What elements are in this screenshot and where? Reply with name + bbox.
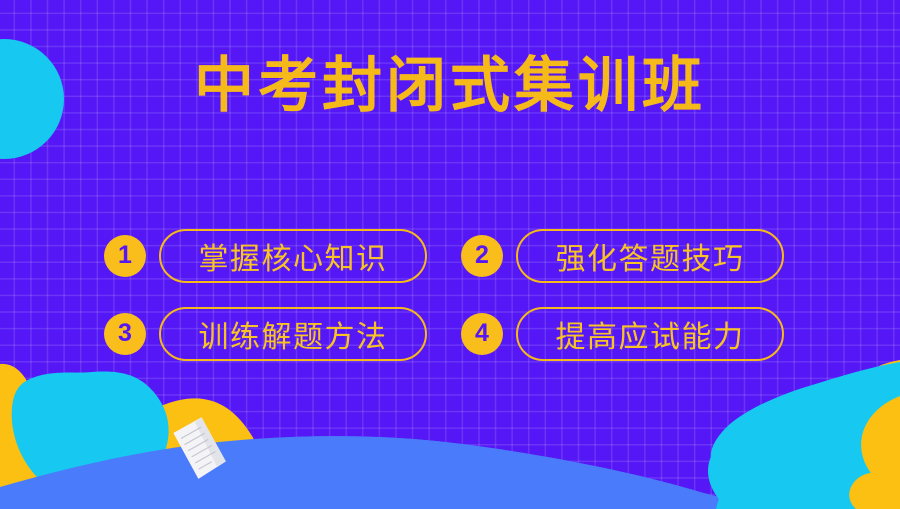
feature-row: 3 训练解题方法 4 提高应试能力 — [104, 304, 804, 364]
feature-badge-1: 1 — [104, 235, 146, 277]
cyan-blob-right-notch — [849, 472, 900, 509]
yellow-blob-bottom-left-shape — [0, 364, 276, 509]
paper-sheet-shape — [172, 415, 228, 481]
cyan-blob-bottom-right-shape — [716, 368, 900, 509]
feature-badge-4: 4 — [461, 313, 503, 355]
cyan-blob-bottom-right-main-shape — [711, 365, 900, 509]
feature-pill-2[interactable]: 强化答题技巧 — [516, 229, 784, 283]
yellow-wedge-right — [861, 396, 900, 500]
blue-wave-shape — [0, 436, 790, 509]
yellow-blob-bottom-right-shape — [800, 360, 900, 509]
cyan-blob-bottom-left-shape — [12, 372, 169, 500]
feature-pill-1[interactable]: 掌握核心知识 — [159, 229, 427, 283]
feature-badge-3: 3 — [104, 313, 146, 355]
feature-pill-3[interactable]: 训练解题方法 — [159, 307, 427, 361]
page-title: 中考封闭式集训班 — [0, 52, 900, 120]
paper-fold-shape — [194, 415, 226, 468]
cyan-blob-bottom-right-upper — [721, 362, 900, 509]
cyan-blob-bottom-right-sweep — [708, 363, 900, 509]
feature-item-4[interactable]: 4 提高应试能力 — [461, 307, 784, 361]
feature-item-3[interactable]: 3 训练解题方法 — [104, 307, 461, 361]
poster-canvas: 中考封闭式集训班 1 掌握核心知识 2 强化答题技巧 3 训练解题方法 4 提高… — [0, 0, 900, 509]
feature-item-2[interactable]: 2 强化答题技巧 — [461, 229, 784, 283]
blue-wave-right-shape — [214, 436, 778, 509]
feature-badge-2: 2 — [461, 235, 503, 277]
feature-list: 1 掌握核心知识 2 强化答题技巧 3 训练解题方法 4 提高应试能力 — [104, 226, 804, 382]
feature-pill-4[interactable]: 提高应试能力 — [516, 307, 784, 361]
feature-row: 1 掌握核心知识 2 强化答题技巧 — [104, 226, 804, 286]
paper-text-lines — [180, 426, 219, 471]
feature-item-1[interactable]: 1 掌握核心知识 — [104, 229, 461, 283]
paper-illustration-group — [172, 415, 228, 481]
